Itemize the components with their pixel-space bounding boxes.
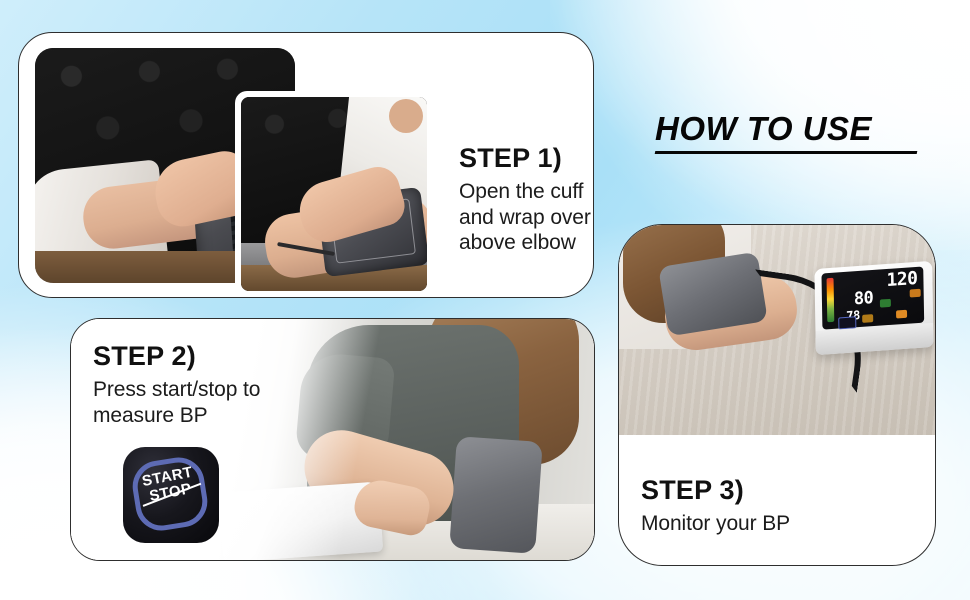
step-1-title: STEP 1) xyxy=(459,143,594,173)
step-2-body: Press start/stop to measure BP xyxy=(93,377,308,428)
cuff-wrapped-on-arm-photo xyxy=(241,97,427,291)
step-1-text-block: STEP 1) Open the cuff and wrap over abov… xyxy=(459,143,594,256)
step-3-body: Monitor your BP xyxy=(641,511,901,537)
step-2-text-block: STEP 2) Press start/stop to measure BP xyxy=(93,341,308,428)
bp-monitor-device: 120 80 78 xyxy=(814,261,933,355)
screen-indicator-orange xyxy=(896,310,907,319)
bp-monitor-screen: 120 80 78 xyxy=(821,266,924,329)
step-1-card: STEP 1) Open the cuff and wrap over abov… xyxy=(18,32,594,298)
start-stop-button-body: START STOP xyxy=(123,447,219,543)
infographic-canvas: HOW TO USE xyxy=(0,0,970,600)
step-2-card: STEP 2) Press start/stop to measure BP S… xyxy=(70,318,595,561)
screen-indicator-amber xyxy=(910,289,921,298)
step-2-title: STEP 2) xyxy=(93,341,308,371)
start-stop-button[interactable]: START STOP xyxy=(123,447,219,543)
screen-indicator-green xyxy=(880,299,891,308)
screen-indicator-yellow xyxy=(862,314,873,323)
page-title: HOW TO USE xyxy=(655,110,917,154)
shoulder-skin-shape xyxy=(389,99,423,133)
step-3-text-block: STEP 3) Monitor your BP xyxy=(641,475,901,537)
systolic-reading: 120 xyxy=(886,270,917,290)
cuff-wrapped-on-arm-photo-frame xyxy=(235,91,433,297)
step-3-card: 120 80 78 STEP 3) Monitor your BP xyxy=(618,224,936,566)
step-1-body: Open the cuff and wrap over above elbow xyxy=(459,179,594,256)
bp-category-bar-gauge xyxy=(827,278,835,323)
diastolic-reading: 80 xyxy=(854,290,874,308)
page-title-text: HOW TO USE xyxy=(655,110,872,147)
step-3-title: STEP 3) xyxy=(641,475,901,505)
page-title-underline xyxy=(655,151,918,154)
bp-monitor-on-desk-photo: 120 80 78 xyxy=(619,225,935,435)
